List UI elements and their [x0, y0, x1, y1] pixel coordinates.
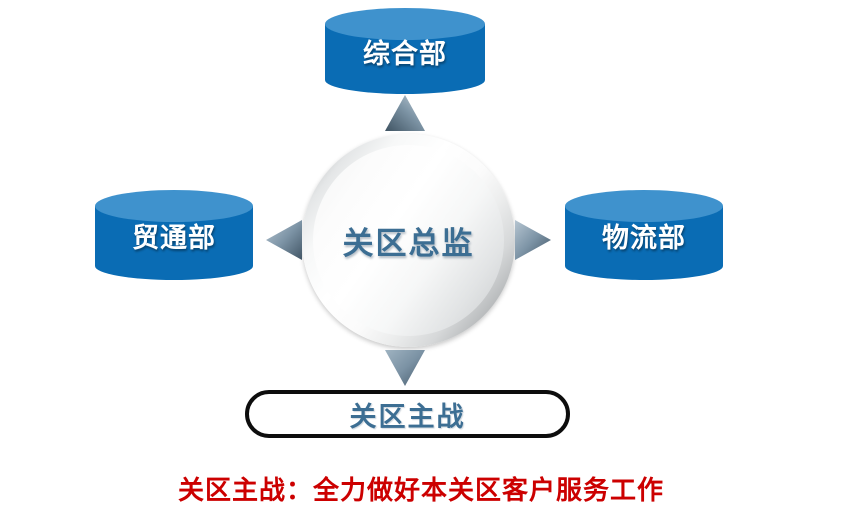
diagram-canvas: 综合部 贸通部 物流部 — [0, 0, 842, 526]
center-node-label: 关区总监 — [302, 134, 515, 347]
node-cylinder-right[interactable]: 物流部 — [565, 190, 723, 280]
node-label-pill: 关区主战 — [249, 394, 566, 434]
node-cylinder-left[interactable]: 贸通部 — [95, 190, 253, 280]
arrow-right-icon — [515, 220, 551, 260]
center-node-circle[interactable]: 关区总监 — [302, 134, 515, 347]
node-label-right: 物流部 — [565, 190, 723, 280]
diagram-caption: 关区主战：全力做好本关区客户服务工作 — [0, 470, 842, 507]
node-pill-bottom[interactable]: 关区主战 — [245, 390, 570, 438]
node-label-left: 贸通部 — [95, 190, 253, 280]
arrow-up-icon — [385, 95, 425, 131]
arrow-left-icon — [266, 220, 302, 260]
node-label-top: 综合部 — [325, 8, 485, 94]
arrow-down-icon — [385, 350, 425, 386]
node-cylinder-top[interactable]: 综合部 — [325, 8, 485, 94]
